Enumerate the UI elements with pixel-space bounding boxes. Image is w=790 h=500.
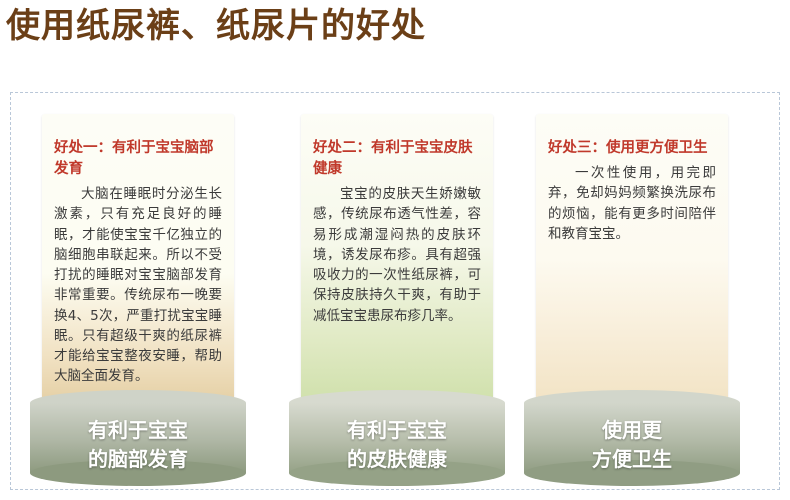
page-title: 使用纸尿裤、纸尿片的好处 (6, 6, 426, 47)
benefit-column-1: 好处一：有利于宝宝脑部发育 大脑在睡眠时分泌生长激素，只有充足良好的睡眠，才能使… (30, 92, 246, 492)
benefit-body-2: 宝宝的皮肤天生娇嫩敏感，传统尿布透气性差，容易形成潮湿闷热的皮肤环境，诱发尿布疹… (313, 184, 481, 326)
benefit-pedestal-label-1: 有利于宝宝 的脑部发育 (30, 416, 246, 474)
benefit-body-3: 一次性使用，用完即弃，免却妈妈频繁换洗尿布的烦恼，能有更多时间陪伴和教育宝宝。 (548, 163, 716, 244)
benefit-pedestal-2: 有利于宝宝 的皮肤健康 (289, 390, 505, 486)
benefit-pedestal-3: 使用更 方便卫生 (524, 390, 740, 486)
benefit-column-3: 好处三：使用更方便卫生 一次性使用，用完即弃，免却妈妈频繁换洗尿布的烦恼，能有更… (524, 92, 740, 492)
benefit-heading-1: 好处一：有利于宝宝脑部发育 (54, 138, 222, 180)
benefit-card-2: 好处二：有利于宝宝皮肤健康 宝宝的皮肤天生娇嫩敏感，传统尿布透气性差，容易形成潮… (301, 114, 493, 404)
benefit-pedestal-label-2: 有利于宝宝 的皮肤健康 (289, 416, 505, 474)
benefit-body-1: 大脑在睡眠时分泌生长激素，只有充足良好的睡眠，才能使宝宝千亿独立的脑细胞串联起来… (54, 184, 222, 387)
benefit-pedestal-label-3: 使用更 方便卫生 (524, 416, 740, 474)
benefit-card-1: 好处一：有利于宝宝脑部发育 大脑在睡眠时分泌生长激素，只有充足良好的睡眠，才能使… (42, 114, 234, 404)
benefit-card-3: 好处三：使用更方便卫生 一次性使用，用完即弃，免却妈妈频繁换洗尿布的烦恼，能有更… (536, 114, 728, 404)
benefit-column-2: 好处二：有利于宝宝皮肤健康 宝宝的皮肤天生娇嫩敏感，传统尿布透气性差，容易形成潮… (289, 92, 505, 492)
benefits-columns: 好处一：有利于宝宝脑部发育 大脑在睡眠时分泌生长激素，只有充足良好的睡眠，才能使… (0, 92, 790, 492)
benefit-heading-3: 好处三：使用更方便卫生 (548, 138, 716, 159)
benefit-heading-2: 好处二：有利于宝宝皮肤健康 (313, 138, 481, 180)
benefit-pedestal-1: 有利于宝宝 的脑部发育 (30, 390, 246, 486)
